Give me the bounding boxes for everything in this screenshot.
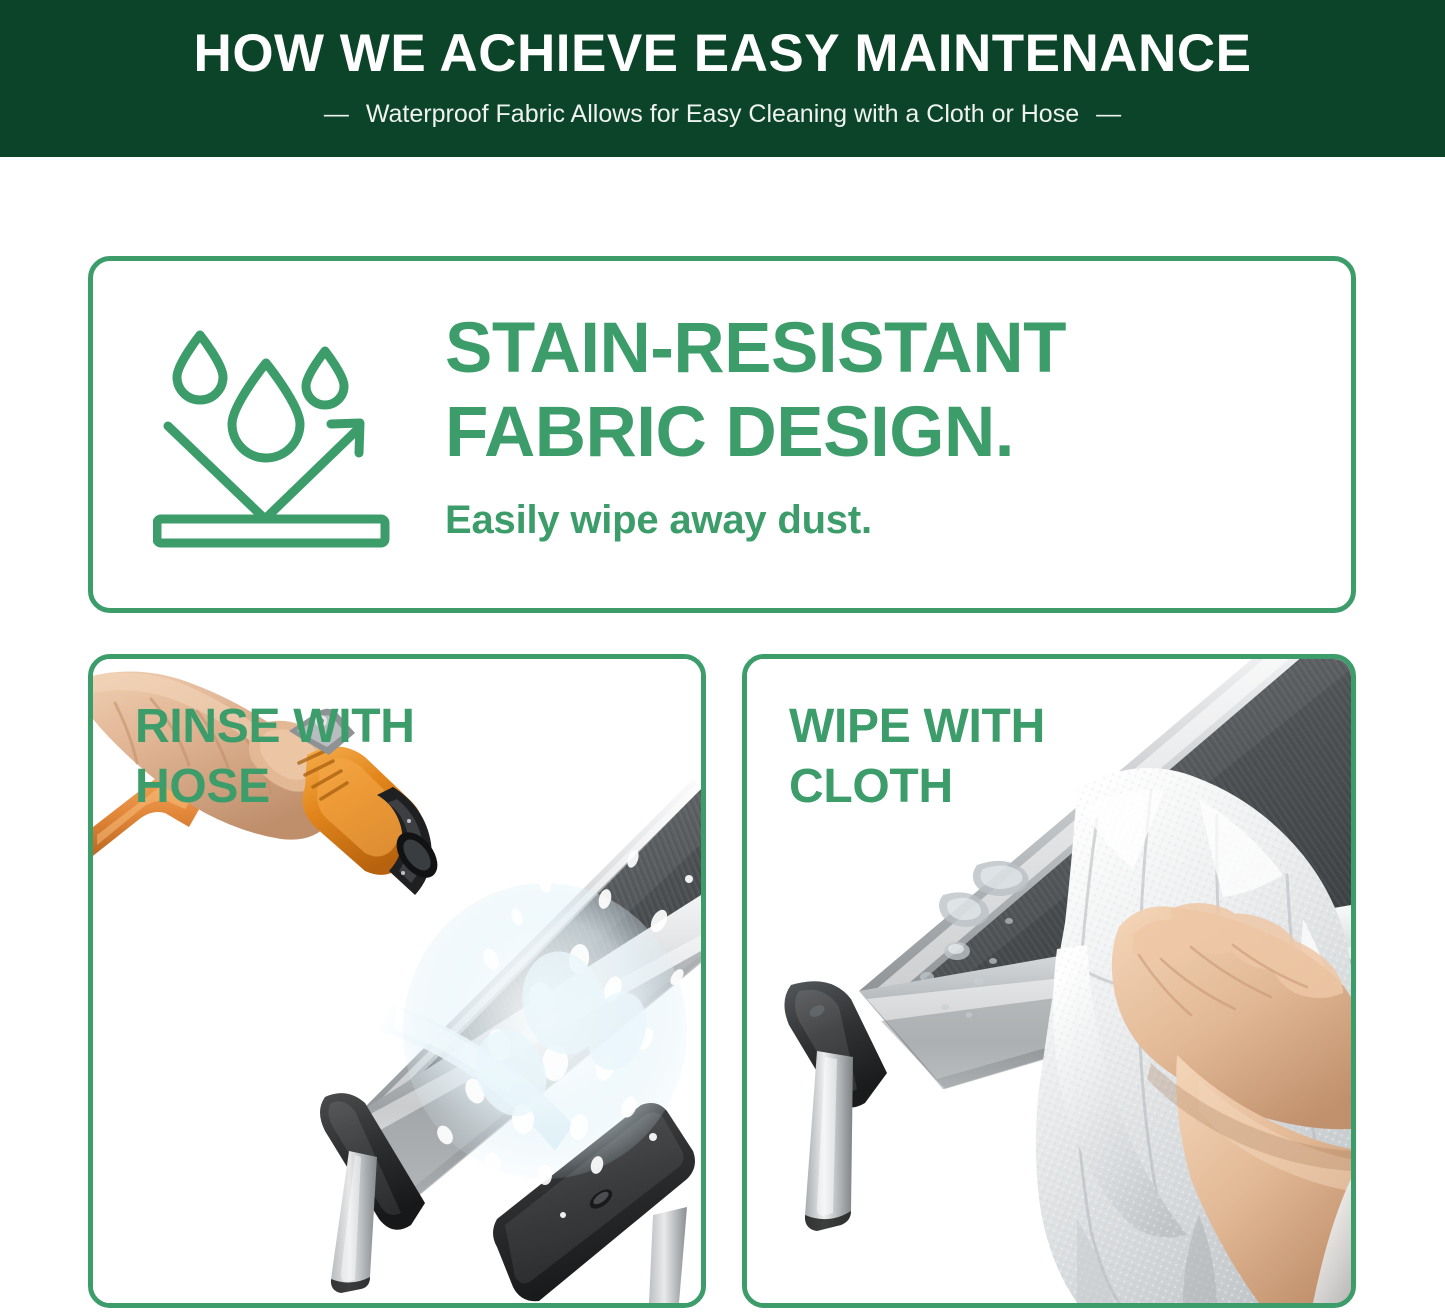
page-subtitle: Waterproof Fabric Allows for Easy Cleani… xyxy=(366,102,1079,127)
stain-resistant-text-block: STAIN-RESISTANT FABRIC DESIGN. Easily wi… xyxy=(445,307,1305,543)
header-dash-right-icon: — xyxy=(1096,102,1121,127)
wipe-with-cloth-card: WIPE WITH CLOTH xyxy=(742,654,1356,1308)
stain-resistant-card: STAIN-RESISTANT FABRIC DESIGN. Easily wi… xyxy=(88,256,1356,613)
stain-resistant-subtitle: Easily wipe away dust. xyxy=(445,497,1305,543)
header-band: HOW WE ACHIEVE EASY MAINTENANCE — Waterp… xyxy=(0,0,1445,157)
page-title: HOW WE ACHIEVE EASY MAINTENANCE xyxy=(194,27,1252,80)
wipe-with-cloth-heading: WIPE WITH CLOTH xyxy=(789,697,1045,817)
stain-resistant-heading-line1: STAIN-RESISTANT xyxy=(445,307,1305,391)
header-dash-left-icon: — xyxy=(324,102,349,127)
stain-resistant-heading-line2: FABRIC DESIGN. xyxy=(445,391,1305,475)
rinse-with-hose-heading: RINSE WITH HOSE xyxy=(135,697,415,817)
header-subtitle-row: — Waterproof Fabric Allows for Easy Clea… xyxy=(324,102,1121,127)
water-repellent-fabric-icon xyxy=(153,323,403,553)
rinse-with-hose-card: RINSE WITH HOSE xyxy=(88,654,706,1308)
